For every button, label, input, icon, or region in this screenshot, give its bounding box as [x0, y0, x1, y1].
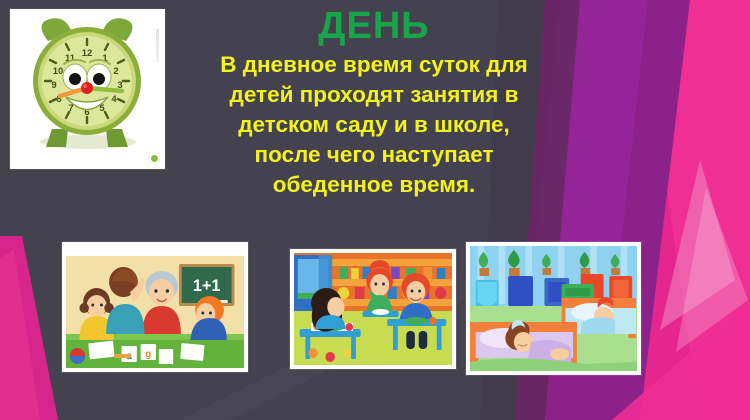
chalkboard-text: 1+1 — [193, 276, 221, 295]
slide: 12 1 2 3 4 5 6 7 8 9 10 11 — [0, 0, 750, 420]
svg-text:12: 12 — [82, 48, 93, 59]
stock-watermark-icon — [149, 153, 160, 164]
lunch-scene-icon — [294, 253, 452, 365]
svg-text:4: 4 — [111, 94, 117, 105]
body-line: детей проходят занятия в — [168, 80, 580, 110]
page-title: ДЕНЬ — [168, 4, 580, 48]
alarm-clock-icon: 12 1 2 3 4 5 6 7 8 9 10 11 — [10, 9, 165, 169]
svg-text:10: 10 — [53, 66, 64, 77]
svg-text:g: g — [145, 349, 151, 360]
text-block: ДЕНЬ В дневное время суток для детей про… — [168, 4, 580, 200]
photo-nap-time — [466, 242, 641, 375]
lunch-illustration — [294, 253, 452, 365]
body-line: после чего наступает — [168, 140, 580, 170]
clock-illustration: 12 1 2 3 4 5 6 7 8 9 10 11 — [10, 9, 165, 169]
photo-lunch-time — [290, 249, 456, 369]
body-line: В дневное время суток для — [168, 50, 580, 80]
svg-text:2: 2 — [113, 66, 118, 77]
clock-image-card: 12 1 2 3 4 5 6 7 8 9 10 11 — [10, 9, 165, 169]
classroom-scene-icon: 1+1 — [66, 246, 244, 368]
svg-text:9: 9 — [51, 80, 56, 91]
naptime-scene-icon — [470, 246, 637, 371]
photo-classroom-lesson: 1+1 — [62, 242, 248, 372]
body-line: детском саду и в школе, — [168, 110, 580, 140]
card-edge-mark — [156, 29, 159, 63]
body-paragraph: В дневное время суток для детей проходят… — [168, 50, 580, 200]
nap-illustration — [470, 246, 637, 371]
classroom-illustration: 1+1 — [66, 246, 244, 368]
body-line: обеденное время. — [168, 170, 580, 200]
